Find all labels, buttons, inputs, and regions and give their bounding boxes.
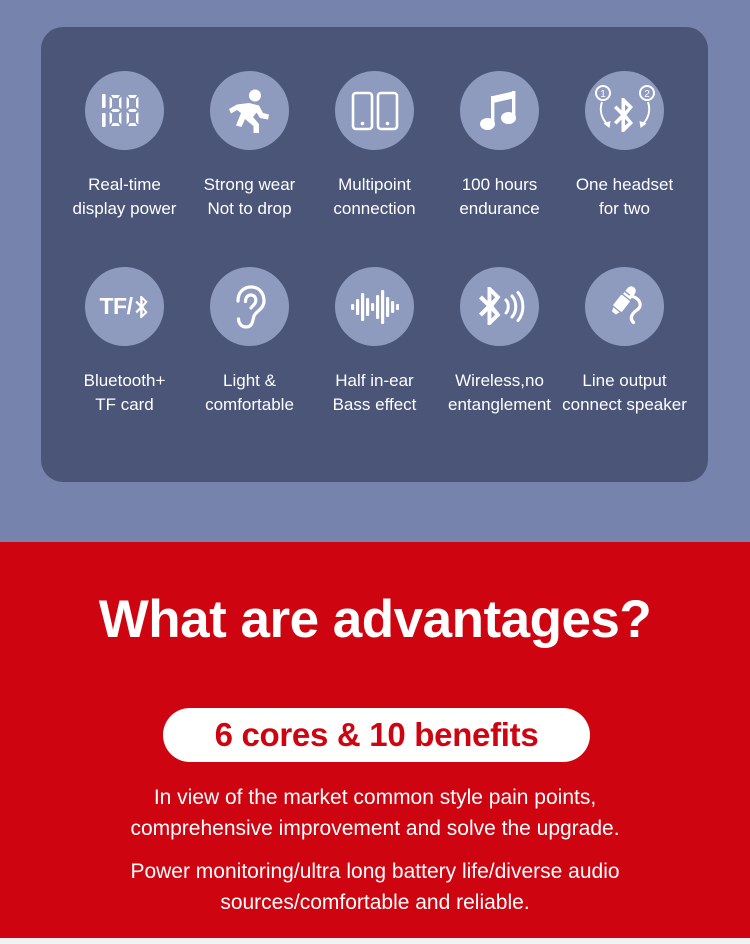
feature-item-wireless-no-entanglement: Wireless,no entanglement xyxy=(437,267,562,417)
feature-item-100-hours-endurance: 100 hours endurance xyxy=(437,71,562,221)
paragraph-2-line-2: sources/comfortable and reliable. xyxy=(45,887,705,918)
paragraph-1-line-2: comprehensive improvement and solve the … xyxy=(45,813,705,844)
advantages-heading: What are advantages? xyxy=(0,589,750,650)
feature-label-line2: display power xyxy=(73,197,177,221)
feature-label-line2: connect speaker xyxy=(562,393,687,417)
feature-item-bluetooth-tf-card: TF/ Bluetooth+ TF card xyxy=(62,267,187,417)
feature-label: Bluetooth+ TF card xyxy=(84,369,166,417)
feature-label-line2: entanglement xyxy=(448,393,551,417)
feature-label-line2: Not to drop xyxy=(204,197,296,221)
feature-label-line1: Line output xyxy=(562,369,687,393)
feature-label-line1: Wireless,no xyxy=(448,369,551,393)
paragraph-2-line-1: Power monitoring/ultra long battery life… xyxy=(45,856,705,887)
feature-label-line1: Half in-ear xyxy=(333,369,417,393)
feature-item-half-in-ear-bass: Half in-ear Bass effect xyxy=(312,267,437,417)
feature-item-strong-wear: Strong wear Not to drop xyxy=(187,71,312,221)
feature-label-line2: Bass effect xyxy=(333,393,417,417)
feature-label: One headset for two xyxy=(576,173,673,221)
bluetooth-wireless-signal-icon xyxy=(460,267,539,346)
music-note-icon xyxy=(460,71,539,150)
features-card: Real-time display power xyxy=(41,27,708,482)
advantages-body: In view of the market common style pain … xyxy=(0,782,750,918)
product-infographic: Real-time display power xyxy=(0,0,750,944)
tf-label: TF/ xyxy=(100,293,150,320)
feature-item-one-headset-for-two: 1 2 One headset for two xyxy=(562,71,687,221)
feature-label-line2: endurance xyxy=(459,197,539,221)
svg-text:1: 1 xyxy=(600,89,606,100)
feature-label-line1: 100 hours xyxy=(459,173,539,197)
audio-waveform-icon xyxy=(335,267,414,346)
feature-label: 100 hours endurance xyxy=(459,173,539,221)
feature-label-line1: One headset xyxy=(576,173,673,197)
feature-label: Wireless,no entanglement xyxy=(448,369,551,417)
feature-label: Strong wear Not to drop xyxy=(204,173,296,221)
feature-label-line1: Light & xyxy=(205,369,294,393)
feature-label: Multipoint connection xyxy=(333,173,415,221)
advantages-paragraph-1: In view of the market common style pain … xyxy=(45,782,705,844)
feature-label-line1: Real-time xyxy=(73,173,177,197)
audio-jack-cable-icon xyxy=(585,267,664,346)
one-headset-two-devices-icon: 1 2 xyxy=(585,71,664,150)
feature-label-line1: Bluetooth+ xyxy=(84,369,166,393)
feature-label: Line output connect speaker xyxy=(562,369,687,417)
tf-text-value: TF/ xyxy=(100,293,133,320)
feature-row-2: TF/ Bluetooth+ TF card xyxy=(41,267,708,417)
feature-item-multipoint-connection: Multipoint connection xyxy=(312,71,437,221)
paragraph-1-line-1: In view of the market common style pain … xyxy=(45,782,705,813)
feature-label-line2: comfortable xyxy=(205,393,294,417)
features-section: Real-time display power xyxy=(0,0,750,542)
feature-label: Light & comfortable xyxy=(205,369,294,417)
feature-label-line2: for two xyxy=(576,197,673,221)
two-phones-icon xyxy=(335,71,414,150)
svg-text:2: 2 xyxy=(644,89,650,100)
advantages-section: What are advantages? 6 cores & 10 benefi… xyxy=(0,542,750,938)
feature-label: Half in-ear Bass effect xyxy=(333,369,417,417)
badge-label: 6 cores & 10 benefits xyxy=(215,716,539,754)
feature-item-line-output-speaker: Line output connect speaker xyxy=(562,267,687,417)
bottom-strip xyxy=(0,938,750,944)
cores-benefits-badge: 6 cores & 10 benefits xyxy=(163,708,590,762)
feature-label-line2: TF card xyxy=(84,393,166,417)
ear-icon xyxy=(210,267,289,346)
feature-label-line2: connection xyxy=(333,197,415,221)
feature-item-light-comfortable: Light & comfortable xyxy=(187,267,312,417)
running-person-icon xyxy=(210,71,289,150)
feature-label: Real-time display power xyxy=(73,173,177,221)
seven-segment-display-icon xyxy=(85,71,164,150)
tf-bluetooth-text-icon: TF/ xyxy=(85,267,164,346)
feature-label-line1: Multipoint xyxy=(333,173,415,197)
feature-row-1: Real-time display power xyxy=(41,71,708,221)
feature-item-real-time-display-power: Real-time display power xyxy=(62,71,187,221)
feature-label-line1: Strong wear xyxy=(204,173,296,197)
advantages-paragraph-2: Power monitoring/ultra long battery life… xyxy=(45,856,705,918)
